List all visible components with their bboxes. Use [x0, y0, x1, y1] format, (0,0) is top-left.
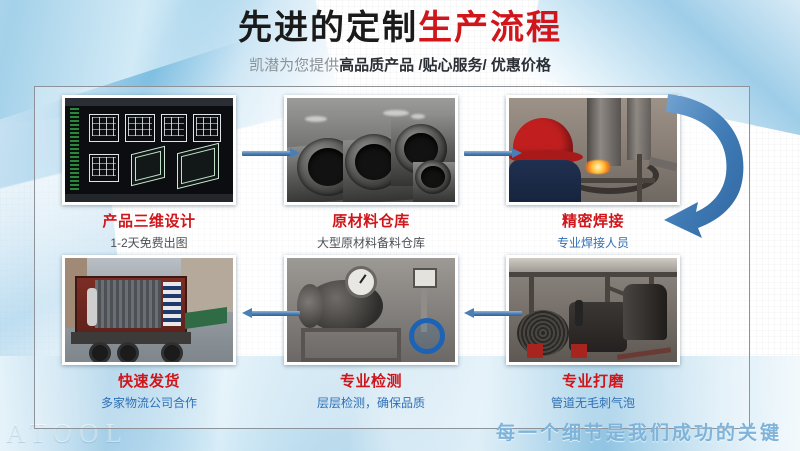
- step-4-caption: 快速发货 多家物流公司合作: [62, 372, 236, 412]
- step-4-desc: 多家物流公司合作: [62, 394, 236, 412]
- arrow-step5-to-step4-icon: [242, 308, 300, 318]
- step-card-1[interactable]: 产品三维设计 1-2天免费出图: [62, 95, 236, 252]
- step-4-title: 快速发货: [62, 372, 236, 392]
- arrow-step3-to-step6-curved-icon: [654, 78, 764, 248]
- step-card-6[interactable]: 专业打磨 管道无毛刺气泡: [506, 255, 680, 412]
- step-card-5[interactable]: 专业检测 层层检测，确保品质: [284, 255, 458, 412]
- pressure-test-illustration: [287, 258, 455, 362]
- step-1-caption: 产品三维设计 1-2天免费出图: [62, 212, 236, 252]
- step-1-title: 产品三维设计: [62, 212, 236, 232]
- step-5-desc: 层层检测，确保品质: [284, 394, 458, 412]
- page-title-plain: 先进的定制: [238, 9, 418, 47]
- slide-canvas: ATOOL 先进的定制生产流程 凯潜为您提供高品质产品 /贴心服务/ 优惠价格: [0, 0, 800, 451]
- welding-illustration: [509, 98, 677, 202]
- page-subtitle-strong: 高品质产品 /贴心服务/ 优惠价格: [339, 57, 551, 74]
- workshop-illustration: [509, 258, 677, 362]
- step-1-desc: 1-2天免费出图: [62, 234, 236, 252]
- header: 先进的定制生产流程 凯潜为您提供高品质产品 /贴心服务/ 优惠价格: [0, 6, 800, 77]
- cad-screenshot-illustration: [65, 98, 233, 202]
- step-2-desc: 大型原材料备料仓库: [284, 234, 458, 252]
- arrow-step1-to-step2-icon: [242, 148, 300, 158]
- step-6-caption: 专业打磨 管道无毛刺气泡: [506, 372, 680, 412]
- arrow-step6-to-step5-icon: [464, 308, 522, 318]
- step-5-caption: 专业检测 层层检测，确保品质: [284, 372, 458, 412]
- footer-slogan: 每一个细节是我们成功的关键: [496, 418, 782, 445]
- step-6-image: [506, 255, 680, 365]
- step-2-caption: 原材料仓库 大型原材料备料仓库: [284, 212, 458, 252]
- page-title: 先进的定制生产流程: [0, 6, 800, 50]
- process-flow-grid: 产品三维设计 1-2天免费出图: [34, 86, 748, 427]
- container-truck-illustration: [65, 258, 233, 362]
- step-5-title: 专业检测: [284, 372, 458, 392]
- step-card-2[interactable]: 原材料仓库 大型原材料备料仓库: [284, 95, 458, 252]
- step-6-title: 专业打磨: [506, 372, 680, 392]
- step-2-image: [284, 95, 458, 205]
- steel-pipes-illustration: [287, 98, 455, 202]
- page-subtitle-soft: 凯潜为您提供: [249, 57, 339, 74]
- step-5-image: [284, 255, 458, 365]
- step-card-4[interactable]: 快速发货 多家物流公司合作: [62, 255, 236, 412]
- arrow-step2-to-step3-icon: [464, 148, 522, 158]
- page-subtitle: 凯潜为您提供高品质产品 /贴心服务/ 优惠价格: [0, 55, 800, 77]
- step-2-title: 原材料仓库: [284, 212, 458, 232]
- page-title-highlight: 生产流程: [418, 9, 562, 47]
- step-1-image: [62, 95, 236, 205]
- step-6-desc: 管道无毛刺气泡: [506, 394, 680, 412]
- step-4-image: [62, 255, 236, 365]
